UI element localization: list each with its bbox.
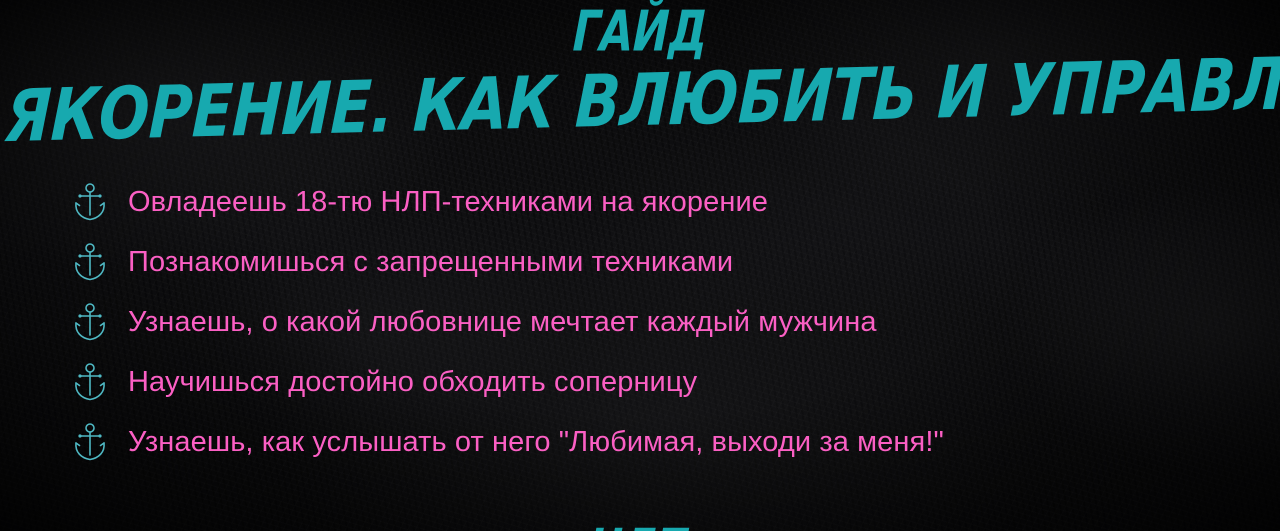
benefit-text: Узнаешь, о какой любовнице мечтает кажды… [128,305,877,339]
benefit-text: Овладеешь 18-тю НЛП-техниками на якорени… [128,185,768,219]
list-item: Научишься достойно обходить соперницу [72,362,1252,402]
benefit-text: Научишься достойно обходить соперницу [128,365,697,399]
anchor-icon [72,362,108,402]
promo-slide: ГАЙД ЯКОРЕНИЕ. КАК ВЛЮБИТЬ И УПРАВЛЯТЬ [0,0,1280,531]
list-item: Узнаешь, как услышать от него "Любимая, … [72,422,1252,462]
anchor-icon [72,242,108,282]
benefit-list: Овладеешь 18-тю НЛП-техниками на якорени… [72,182,1252,462]
bottom-cutoff-heading: НЛП [0,524,1280,531]
benefit-text: Узнаешь, как услышать от него "Любимая, … [128,425,944,459]
benefit-text: Познакомишься с запрещенными техниками [128,245,733,279]
list-item: Познакомишься с запрещенными техниками [72,242,1252,282]
list-item: Овладеешь 18-тю НЛП-техниками на якорени… [72,182,1252,222]
anchor-icon [72,182,108,222]
list-item: Узнаешь, о какой любовнице мечтает кажды… [72,302,1252,342]
anchor-icon [72,422,108,462]
bottom-cutoff-text: НЛП [590,524,690,531]
slide-content: ГАЙД ЯКОРЕНИЕ. КАК ВЛЮБИТЬ И УПРАВЛЯТЬ [0,0,1280,531]
anchor-icon [72,302,108,342]
